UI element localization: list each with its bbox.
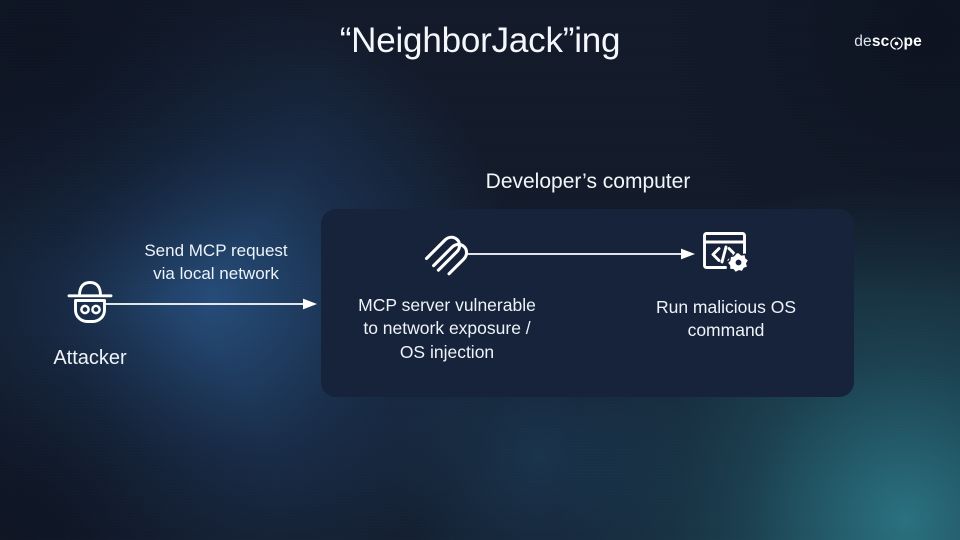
node-mcp-server: MCP server vulnerable to network exposur… [326,230,568,364]
node-os-command: Run malicious OS command [612,228,840,343]
node-label-mcp-server: MCP server vulnerable to network exposur… [326,294,568,364]
node-attacker: Attacker [14,278,166,372]
node-label-attacker: Attacker [14,345,166,372]
mcp-logo-icon [326,230,568,281]
logo-text-de: de [854,33,872,51]
panel-heading-developers-computer: Developer’s computer [322,170,854,194]
slide-canvas: “NeighborJack”ing de sc pe Developer’s c… [0,0,960,540]
code-window-gear-icon [612,228,840,281]
descope-logo[interactable]: de sc pe [854,33,922,51]
hacker-hat-icon [14,278,166,331]
logo-text-sc: sc [872,33,890,51]
node-label-os-command: Run malicious OS command [612,296,840,343]
descope-o-mark-icon [890,37,903,50]
logo-text-pe: pe [904,33,923,51]
page-title: “NeighborJack”ing [0,21,960,61]
